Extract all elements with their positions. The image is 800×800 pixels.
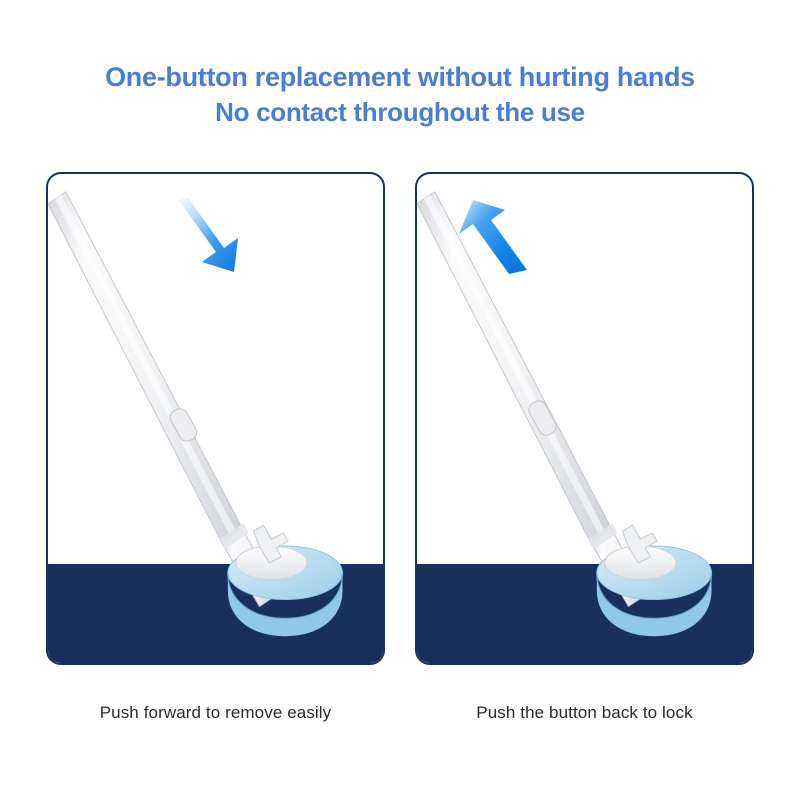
panel-row bbox=[46, 172, 754, 665]
caption-row: Push forward to remove easily Push the b… bbox=[46, 702, 754, 724]
caption-remove: Push forward to remove easily bbox=[46, 702, 385, 724]
panel-remove bbox=[46, 172, 385, 665]
page-title-line-2: No contact throughout the use bbox=[0, 95, 800, 130]
floor-surface bbox=[417, 564, 752, 663]
arrow-up-left-icon bbox=[455, 196, 541, 276]
page-title: One-button replacement without hurting h… bbox=[0, 60, 800, 130]
release-button bbox=[167, 406, 199, 444]
release-button bbox=[526, 398, 559, 438]
floor-surface bbox=[48, 564, 383, 663]
page-title-line-1: One-button replacement without hurting h… bbox=[0, 60, 800, 95]
caption-lock: Push the button back to lock bbox=[415, 702, 754, 724]
arrow-down-right-icon bbox=[158, 196, 244, 276]
panel-lock bbox=[415, 172, 754, 665]
